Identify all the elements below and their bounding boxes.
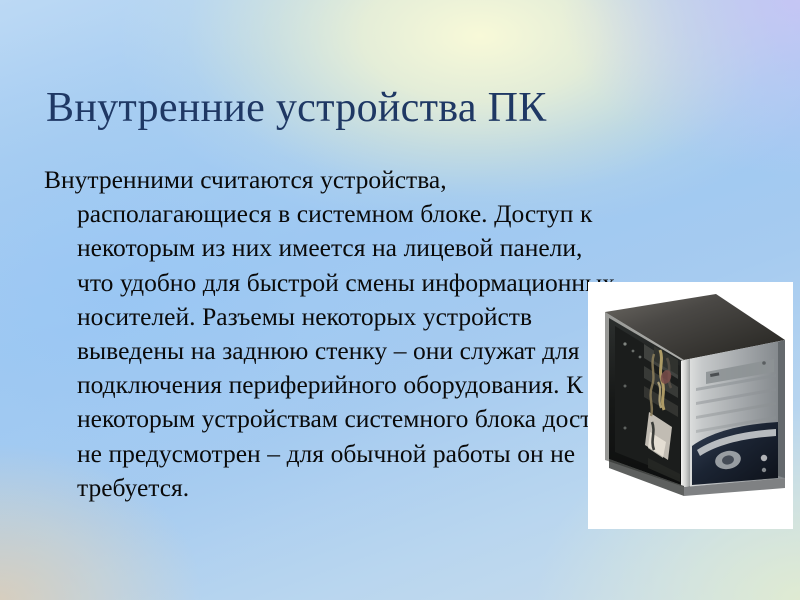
slide-title: Внутренние устройства ПК: [46, 84, 746, 132]
computer-case-illustration: [588, 282, 793, 529]
open-computer-case-photo: [588, 282, 793, 529]
presentation-slide: Внутренние устройства ПК Внутренними счи…: [0, 0, 800, 600]
slide-body-text: Внутренними считаются устройства, распол…: [44, 163, 625, 505]
